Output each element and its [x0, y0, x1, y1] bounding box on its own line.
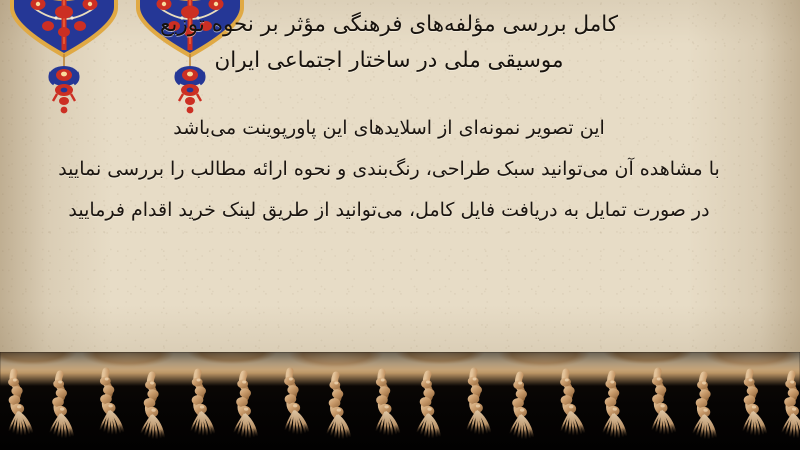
slide-body: این تصویر نمونه‌ای از اسلایدهای این پاور…	[0, 108, 778, 231]
slide-title-line-1: کامل بررسی مؤلفه‌های فرهنگی مؤثر بر نحوه…	[0, 7, 778, 43]
carpet-fringe-tassels-icon	[0, 352, 800, 450]
slide-canvas: کامل بررسی مؤلفه‌های فرهنگی مؤثر بر نحوه…	[0, 0, 800, 450]
slide-body-line-2: با مشاهده آن می‌توانید سبک طراحی، رنگ‌بن…	[0, 149, 778, 190]
slide-title-line-2: موسیقی ملی در ساختار اجتماعی ایران	[0, 43, 778, 79]
slide-body-line-1: این تصویر نمونه‌ای از اسلایدهای این پاور…	[0, 108, 778, 149]
slide-text-layer: کامل بررسی مؤلفه‌های فرهنگی مؤثر بر نحوه…	[0, 0, 800, 372]
slide-title: کامل بررسی مؤلفه‌های فرهنگی مؤثر بر نحوه…	[0, 7, 778, 79]
slide-body-line-3: در صورت تمایل به دریافت فایل کامل، می‌تو…	[0, 190, 778, 231]
carpet-fringe-band	[0, 352, 800, 450]
